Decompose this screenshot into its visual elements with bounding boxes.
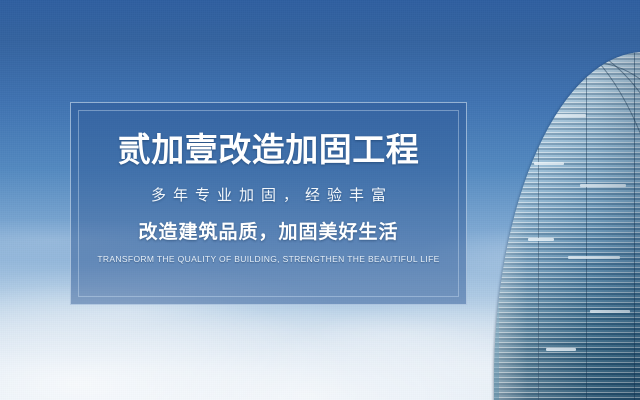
skyscraper-photo	[460, 0, 640, 400]
english-tagline: TRANSFORM THE QUALITY OF BUILDING, STREN…	[97, 255, 439, 264]
tower-shading	[494, 52, 640, 400]
tower-left-edge-highlight	[494, 52, 499, 400]
headline-slogan: 改造建筑品质，加固美好生活	[138, 223, 398, 242]
panel-content: 贰加壹改造加固工程 多年专业加固，经验丰富 改造建筑品质，加固美好生活 TRAN…	[71, 103, 466, 304]
headline-subtitle: 多年专业加固，经验丰富	[144, 188, 393, 203]
banner-image: 贰加壹改造加固工程 多年专业加固，经验丰富 改造建筑品质，加固美好生活 TRAN…	[0, 0, 640, 400]
headline-panel: 贰加壹改造加固工程 多年专业加固，经验丰富 改造建筑品质，加固美好生活 TRAN…	[70, 102, 467, 305]
headline-title: 贰加壹改造加固工程	[118, 133, 420, 166]
glass-tower	[494, 52, 640, 400]
